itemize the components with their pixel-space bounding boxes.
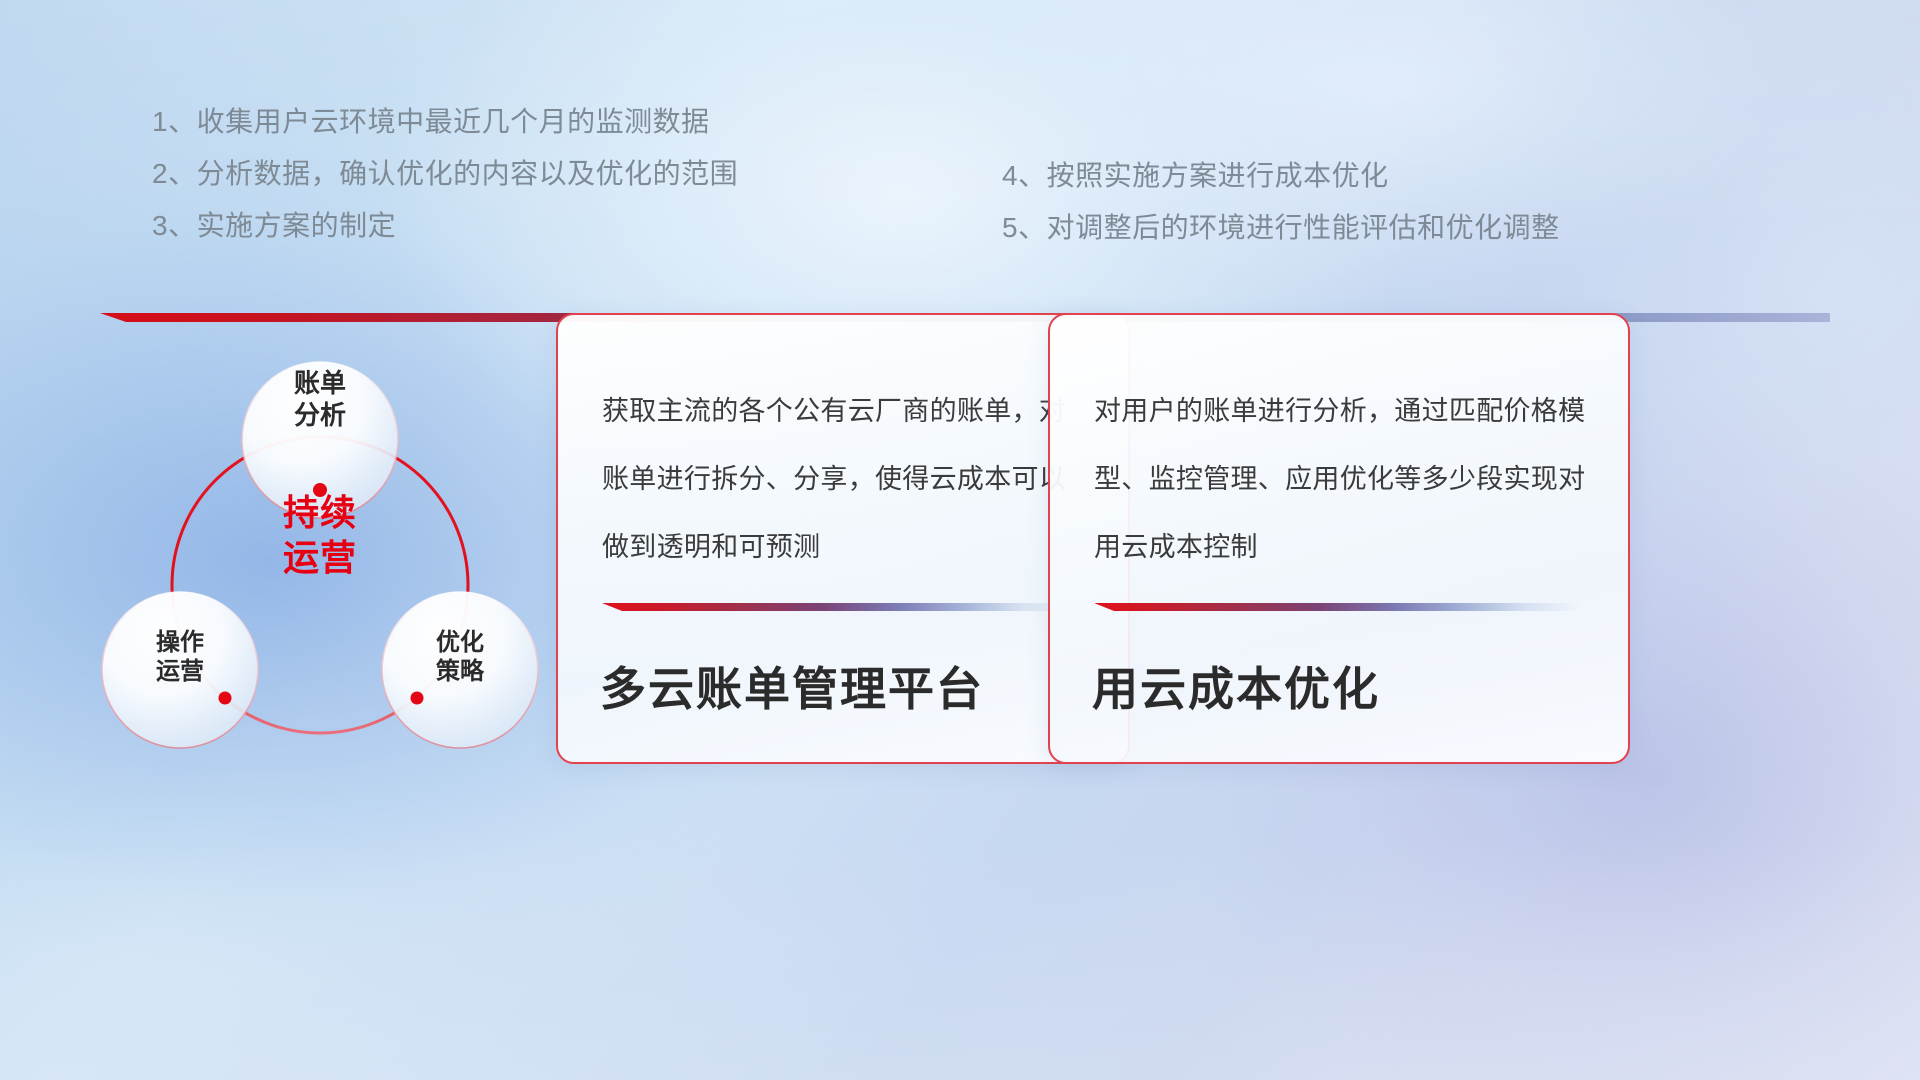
venn-svg: [80, 340, 580, 860]
venn-bubble-bottom-left: [102, 592, 258, 748]
venn-bubble-bottom-right: [382, 592, 538, 748]
venn-connector-dot-top: [313, 483, 327, 497]
feature-card-multicloud-billing[interactable]: 获取主流的各个公有云厂商的账单，对账单进行拆分、分享，使得云成本可以做到透明和可…: [556, 313, 1130, 764]
step-item-5: 5、对调整后的环境进行性能评估和优化调整: [1002, 202, 1560, 254]
feature-card-body: 获取主流的各个公有云厂商的账单，对账单进行拆分、分享，使得云成本可以做到透明和可…: [602, 377, 1082, 581]
continuous-operations-venn-diagram: 账单 分析 操作 运营 优化 策略 持续 运营: [80, 340, 580, 860]
venn-connector-dot-bottom-right: [411, 692, 424, 705]
steps-right-column: 4、按照实施方案进行成本优化 5、对调整后的环境进行性能评估和优化调整: [1002, 150, 1560, 254]
feature-card-divider: [1094, 603, 1580, 611]
step-item-3: 3、实施方案的制定: [152, 200, 738, 252]
venn-connector-dot-bottom-left: [219, 692, 232, 705]
feature-card-title: 用云成本优化: [1092, 653, 1586, 719]
step-item-4: 4、按照实施方案进行成本优化: [1002, 150, 1560, 202]
step-item-1: 1、收集用户云环境中最近几个月的监测数据: [152, 96, 738, 148]
feature-card-divider: [602, 603, 1074, 611]
steps-left-column: 1、收集用户云环境中最近几个月的监测数据 2、分析数据，确认优化的内容以及优化的…: [152, 96, 738, 252]
feature-cards-group: 获取主流的各个公有云厂商的账单，对账单进行拆分、分享，使得云成本可以做到透明和可…: [548, 313, 1888, 783]
feature-card-title: 多云账单管理平台: [600, 653, 1094, 719]
step-item-2: 2、分析数据，确认优化的内容以及优化的范围: [152, 148, 738, 200]
process-steps-list: 1、收集用户云环境中最近几个月的监测数据 2、分析数据，确认优化的内容以及优化的…: [0, 0, 1920, 300]
feature-card-cloud-cost-optimization[interactable]: 对用户的账单进行分析，通过匹配价格模型、监控管理、应用优化等多少段实现对用云成本…: [1048, 313, 1630, 764]
feature-card-body: 对用户的账单进行分析，通过匹配价格模型、监控管理、应用优化等多少段实现对用云成本…: [1094, 377, 1586, 581]
